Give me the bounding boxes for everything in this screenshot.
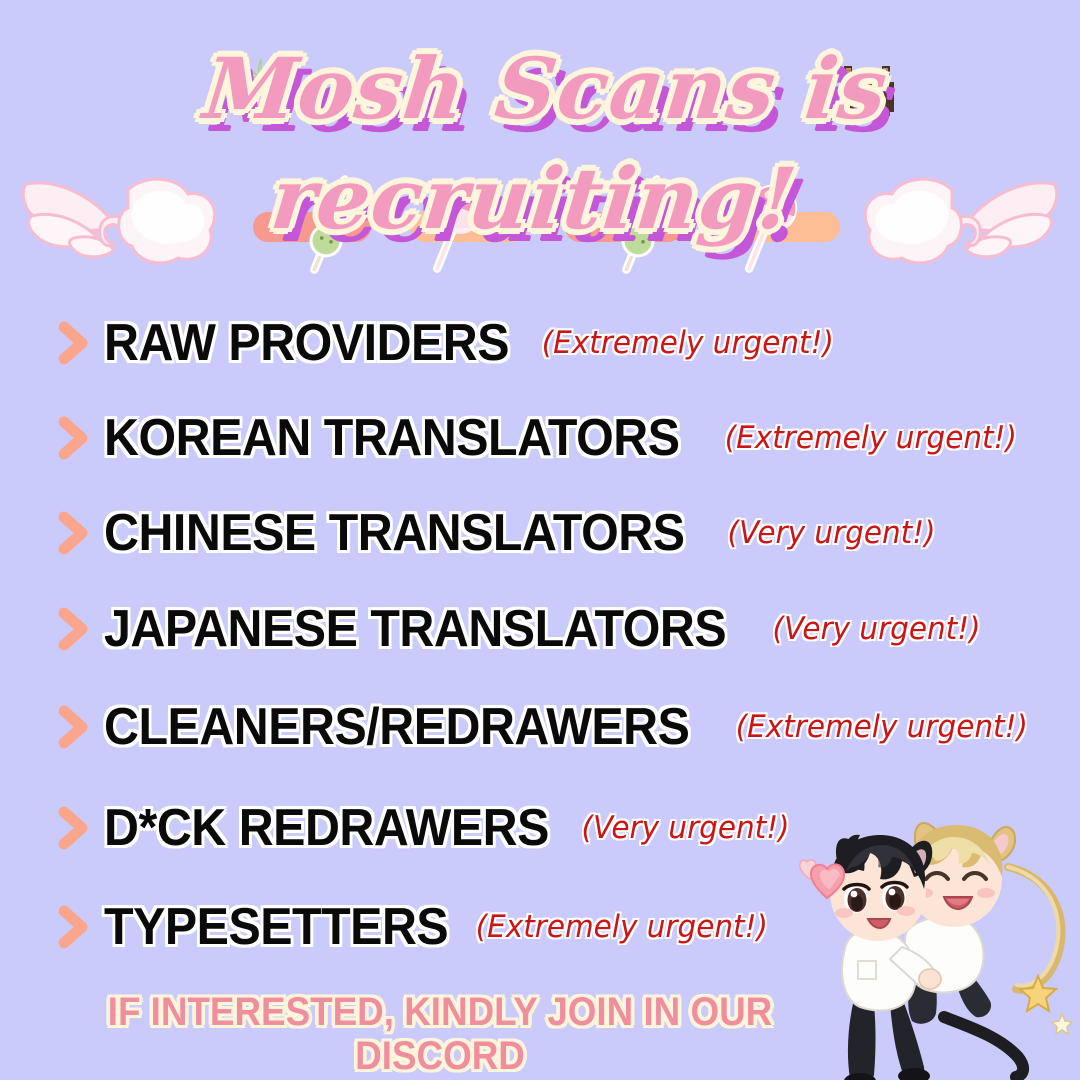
list-item[interactable]: RAW PROVIDERS (Extremely urgent!): [0, 295, 1080, 391]
chevron-right-icon: [56, 511, 90, 555]
recruitment-poster: Mosh Scans is recruiting!: [0, 0, 1080, 1080]
list-item[interactable]: KOREAN TRANSLATORS (Extremely urgent!): [0, 391, 1080, 485]
star-icon: [1016, 970, 1076, 1040]
list-item[interactable]: JAPANESE TRANSLATORS (Very urgent!): [0, 581, 1080, 677]
role-label: D*CK REDRAWERS: [104, 799, 549, 857]
footer-line-1: IF INTERESTED, KINDLY JOIN IN OUR DISCOR…: [35, 990, 845, 1078]
chevron-right-icon: [56, 416, 90, 460]
chevron-right-icon: [56, 321, 90, 365]
chevron-right-icon: [56, 705, 90, 749]
role-label: KOREAN TRANSLATORS: [104, 409, 680, 467]
page-title: Mosh Scans is recruiting!: [0, 34, 1080, 254]
role-label: TYPESETTERS: [104, 898, 448, 956]
role-urgency: (Very urgent!): [728, 515, 936, 551]
role-urgency: (Very urgent!): [772, 611, 980, 647]
heart-icon: [796, 850, 866, 910]
role-urgency: (Very urgent!): [582, 810, 790, 846]
chevron-right-icon: [56, 607, 90, 651]
role-label: CHINESE TRANSLATORS: [104, 504, 684, 562]
role-label: JAPANESE TRANSLATORS: [104, 600, 726, 658]
list-item[interactable]: CLEANERS/REDRAWERS (Extremely urgent!): [0, 677, 1080, 776]
role-urgency: (Extremely urgent!): [735, 709, 1027, 745]
chevron-right-icon: [56, 806, 90, 850]
role-label: CLEANERS/REDRAWERS: [104, 698, 689, 756]
role-urgency: (Extremely urgent!): [476, 909, 768, 945]
footer-call-to-action: IF INTERESTED, KINDLY JOIN IN OUR DISCOR…: [35, 990, 845, 1080]
chevron-right-icon: [56, 905, 90, 949]
header: Mosh Scans is recruiting!: [0, 24, 1080, 164]
role-urgency: (Extremely urgent!): [725, 420, 1017, 456]
role-urgency: (Extremely urgent!): [541, 325, 833, 361]
list-item[interactable]: CHINESE TRANSLATORS (Very urgent!): [0, 485, 1080, 581]
role-label: RAW PROVIDERS: [104, 314, 509, 372]
